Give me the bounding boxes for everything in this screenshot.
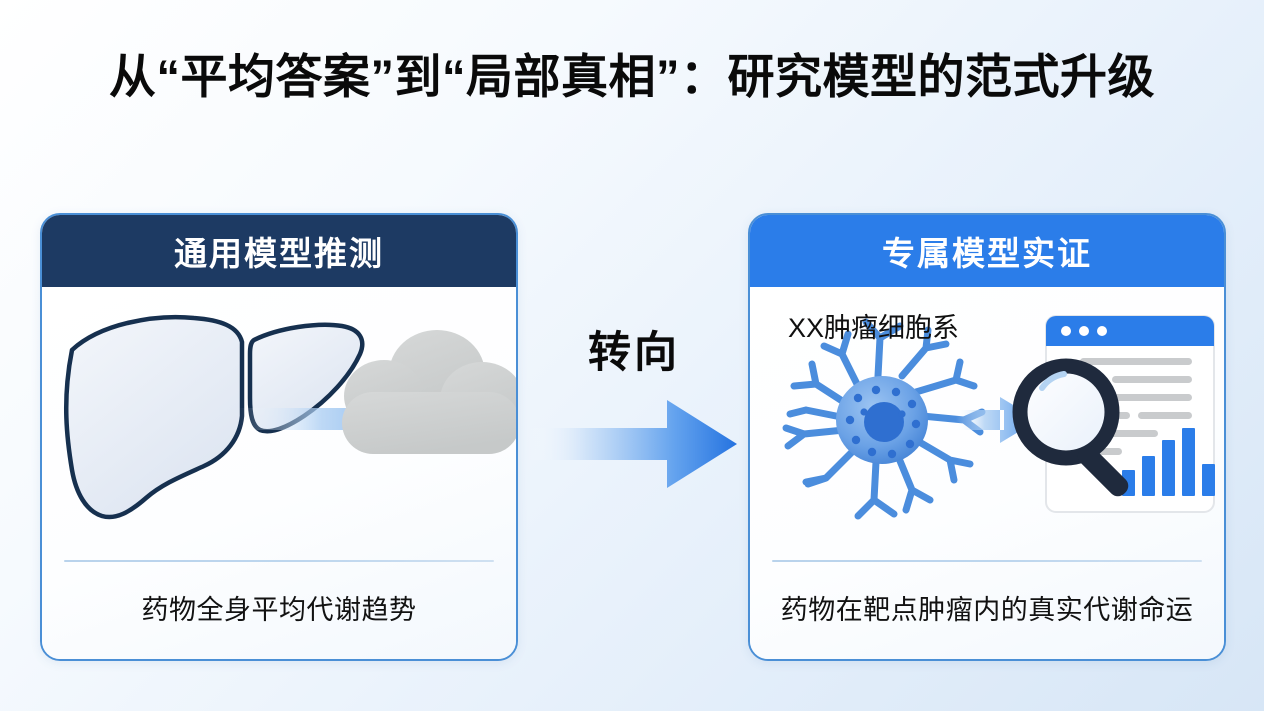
card-dedicated-model-header-label: 专属模型实证 xyxy=(882,227,1092,275)
card-general-model-divider xyxy=(64,560,494,562)
card-dedicated-model-header: 专属模型实证 xyxy=(749,214,1225,287)
card-dedicated-model-caption: 药物在靶点肿瘤内的真实代谢命运 xyxy=(760,588,1214,627)
cell-nucleus xyxy=(864,402,904,442)
card-general-model-caption: 药物全身平均代谢趋势 xyxy=(52,588,506,627)
general-model-illustration xyxy=(42,288,516,560)
cloud-icon xyxy=(342,330,518,454)
arrow-right-icon xyxy=(527,396,739,492)
transition-label: 转向 xyxy=(523,318,745,380)
window-dots-icon xyxy=(1061,326,1107,336)
card-general-model-header-label: 通用模型推测 xyxy=(174,227,384,275)
card-general-model-header: 通用模型推测 xyxy=(41,214,517,287)
card-dedicated-model-body: XX肿瘤细胞系 xyxy=(750,288,1224,659)
card-general-model: 通用模型推测 xyxy=(40,213,518,661)
liver-icon-left-lobe xyxy=(66,317,242,517)
transition-group: 转向 xyxy=(523,318,745,508)
report-titlebar xyxy=(1046,316,1214,346)
card-dedicated-model-divider xyxy=(772,560,1202,562)
card-dedicated-model: 专属模型实证 XX肿瘤细胞系 xyxy=(748,213,1226,661)
slide-canvas: 从“平均答案”到“局部真相”：研究模型的范式升级 通用模型推测 xyxy=(0,0,1264,711)
page-title: 从“平均答案”到“局部真相”：研究模型的范式升级 xyxy=(0,46,1264,108)
cell-line-label: XX肿瘤细胞系 xyxy=(788,306,959,345)
liver-to-cloud-graphic xyxy=(42,288,518,560)
dedicated-model-illustration: XX肿瘤细胞系 xyxy=(750,288,1224,560)
tumor-cell-icon xyxy=(786,322,982,516)
card-general-model-body: 药物全身平均代谢趋势 xyxy=(42,288,516,659)
